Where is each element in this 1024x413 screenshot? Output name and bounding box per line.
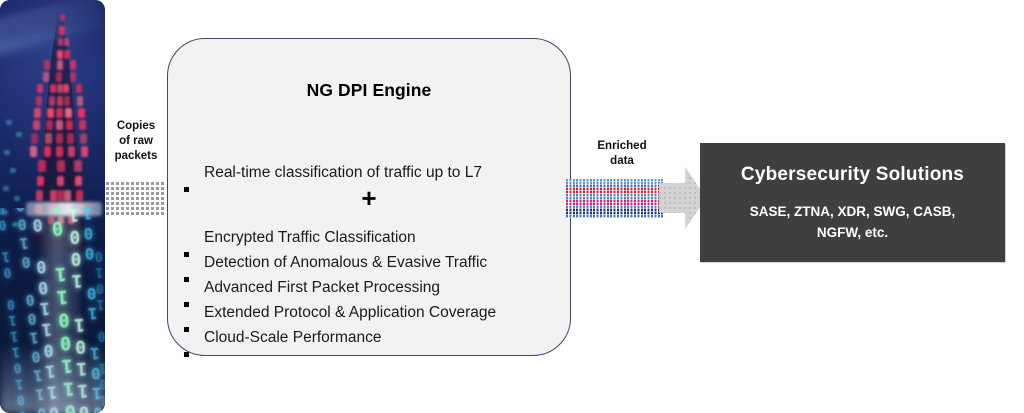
- solutions-subtitle-line-2: NGFW, etc.: [726, 222, 979, 243]
- building-light: [81, 146, 88, 157]
- enriched-label-line-2: data: [581, 154, 663, 169]
- primary-capability-label: Real-time classification of traffic up t…: [204, 160, 482, 185]
- solutions-subtitle: SASE, ZTNA, XDR, SWG, CASB, NGFW, etc.: [726, 201, 979, 243]
- building-light: [57, 176, 64, 186]
- building-light: [80, 133, 87, 144]
- city-accent-light: [4, 150, 10, 155]
- solutions-title: Cybersecurity Solutions: [700, 164, 1005, 186]
- ng-dpi-engine-panel: NG DPI Engine Real-time classification o…: [167, 38, 571, 356]
- building-light: [75, 176, 82, 186]
- plus-icon: +: [168, 185, 570, 211]
- building-light: [78, 108, 85, 118]
- building-light: [33, 120, 40, 130]
- building-light: [34, 108, 41, 118]
- copies-label-line-2: of raw: [103, 134, 169, 149]
- building-light: [56, 72, 62, 82]
- building-light: [68, 146, 75, 157]
- list-item: Advanced First Packet Processing: [182, 275, 496, 300]
- building-light: [45, 133, 52, 144]
- building-light: [38, 160, 46, 172]
- panel-title: NG DPI Engine: [168, 80, 570, 101]
- network-traffic-photo: 00101110 01 000110100 0100 11001101100 0…: [0, 0, 105, 413]
- building-light: [77, 96, 83, 106]
- photo-bottom-haze: [0, 343, 105, 413]
- capability-label: Detection of Anomalous & Evasive Traffic: [204, 250, 487, 275]
- building-light: [59, 26, 65, 35]
- building-light: [67, 133, 74, 144]
- list-item: Cloud-Scale Performance: [182, 325, 496, 350]
- capability-label: Extended Protocol & Application Coverage: [204, 300, 496, 325]
- building-light: [56, 146, 63, 157]
- building-light: [36, 96, 42, 106]
- building-light: [50, 190, 57, 201]
- building-light: [30, 146, 37, 157]
- building-light: [74, 160, 82, 172]
- building-light: [57, 96, 63, 106]
- copies-of-raw-packets-label: Copies of raw packets: [103, 119, 169, 164]
- enriched-data-label: Enriched data: [581, 139, 663, 169]
- raw-packets-grid-icon: [106, 182, 166, 215]
- building-light: [49, 96, 55, 106]
- capability-label: Cloud-Scale Performance: [204, 325, 381, 350]
- building-light: [37, 176, 44, 186]
- capability-label: Advanced First Packet Processing: [204, 275, 440, 300]
- building-light: [76, 84, 82, 93]
- building-light: [56, 108, 63, 118]
- copies-label-line-1: Copies: [103, 119, 169, 134]
- city-accent-light: [14, 196, 20, 201]
- building-light: [64, 50, 70, 59]
- building-light: [64, 190, 71, 201]
- right-arrow-icon: [659, 167, 706, 229]
- data-stream-left-fade: [566, 179, 596, 218]
- building-light: [44, 146, 51, 157]
- copies-label-line-3: packets: [103, 149, 169, 164]
- building-light: [56, 133, 63, 144]
- building-light: [66, 120, 73, 130]
- city-accent-light: [3, 186, 9, 191]
- building-light: [63, 84, 69, 93]
- capability-label: Encrypted Traffic Classification: [204, 225, 416, 250]
- building-light: [57, 60, 63, 70]
- solutions-subtitle-line-1: SASE, ZTNA, XDR, SWG, CASB,: [726, 201, 979, 222]
- diagram-canvas: 00101110 01 000110100 0100 11001101100 0…: [0, 0, 1024, 413]
- building-light: [65, 108, 72, 118]
- city-accent-light: [16, 132, 22, 137]
- building-light: [70, 60, 76, 70]
- building-light: [64, 96, 70, 106]
- building-light: [31, 133, 38, 144]
- building-light: [43, 72, 49, 82]
- list-item: Detection of Anomalous & Evasive Traffic: [182, 250, 496, 275]
- city-accent-light: [10, 168, 16, 173]
- building-light: [70, 72, 76, 82]
- building-light: [64, 38, 69, 46]
- building-light: [57, 160, 65, 172]
- building-light: [79, 120, 86, 130]
- enriched-label-line-1: Enriched: [581, 139, 663, 154]
- cybersecurity-solutions-box: Cybersecurity Solutions SASE, ZTNA, XDR,…: [700, 143, 1005, 262]
- enriched-data-stream-icon: [566, 179, 663, 218]
- building-light: [44, 60, 50, 70]
- building-light: [36, 190, 43, 201]
- city-accent-light: [6, 120, 12, 125]
- building-light: [37, 84, 43, 93]
- building-light: [50, 84, 56, 93]
- list-item: Encrypted Traffic Classification: [182, 225, 496, 250]
- primary-capability-row: Real-time classification of traffic up t…: [182, 160, 482, 185]
- building-light: [57, 190, 64, 201]
- building-light: [47, 108, 54, 118]
- building-light: [58, 38, 63, 46]
- list-item: Real-time classification of traffic up t…: [182, 160, 482, 185]
- building-light: [57, 50, 63, 59]
- building-light: [60, 14, 65, 21]
- capability-list: Encrypted Traffic Classification Detecti…: [182, 225, 496, 350]
- building-light: [46, 120, 53, 130]
- list-item: Extended Protocol & Application Coverage: [182, 300, 496, 325]
- building-light: [76, 190, 83, 201]
- building-light: [56, 120, 63, 130]
